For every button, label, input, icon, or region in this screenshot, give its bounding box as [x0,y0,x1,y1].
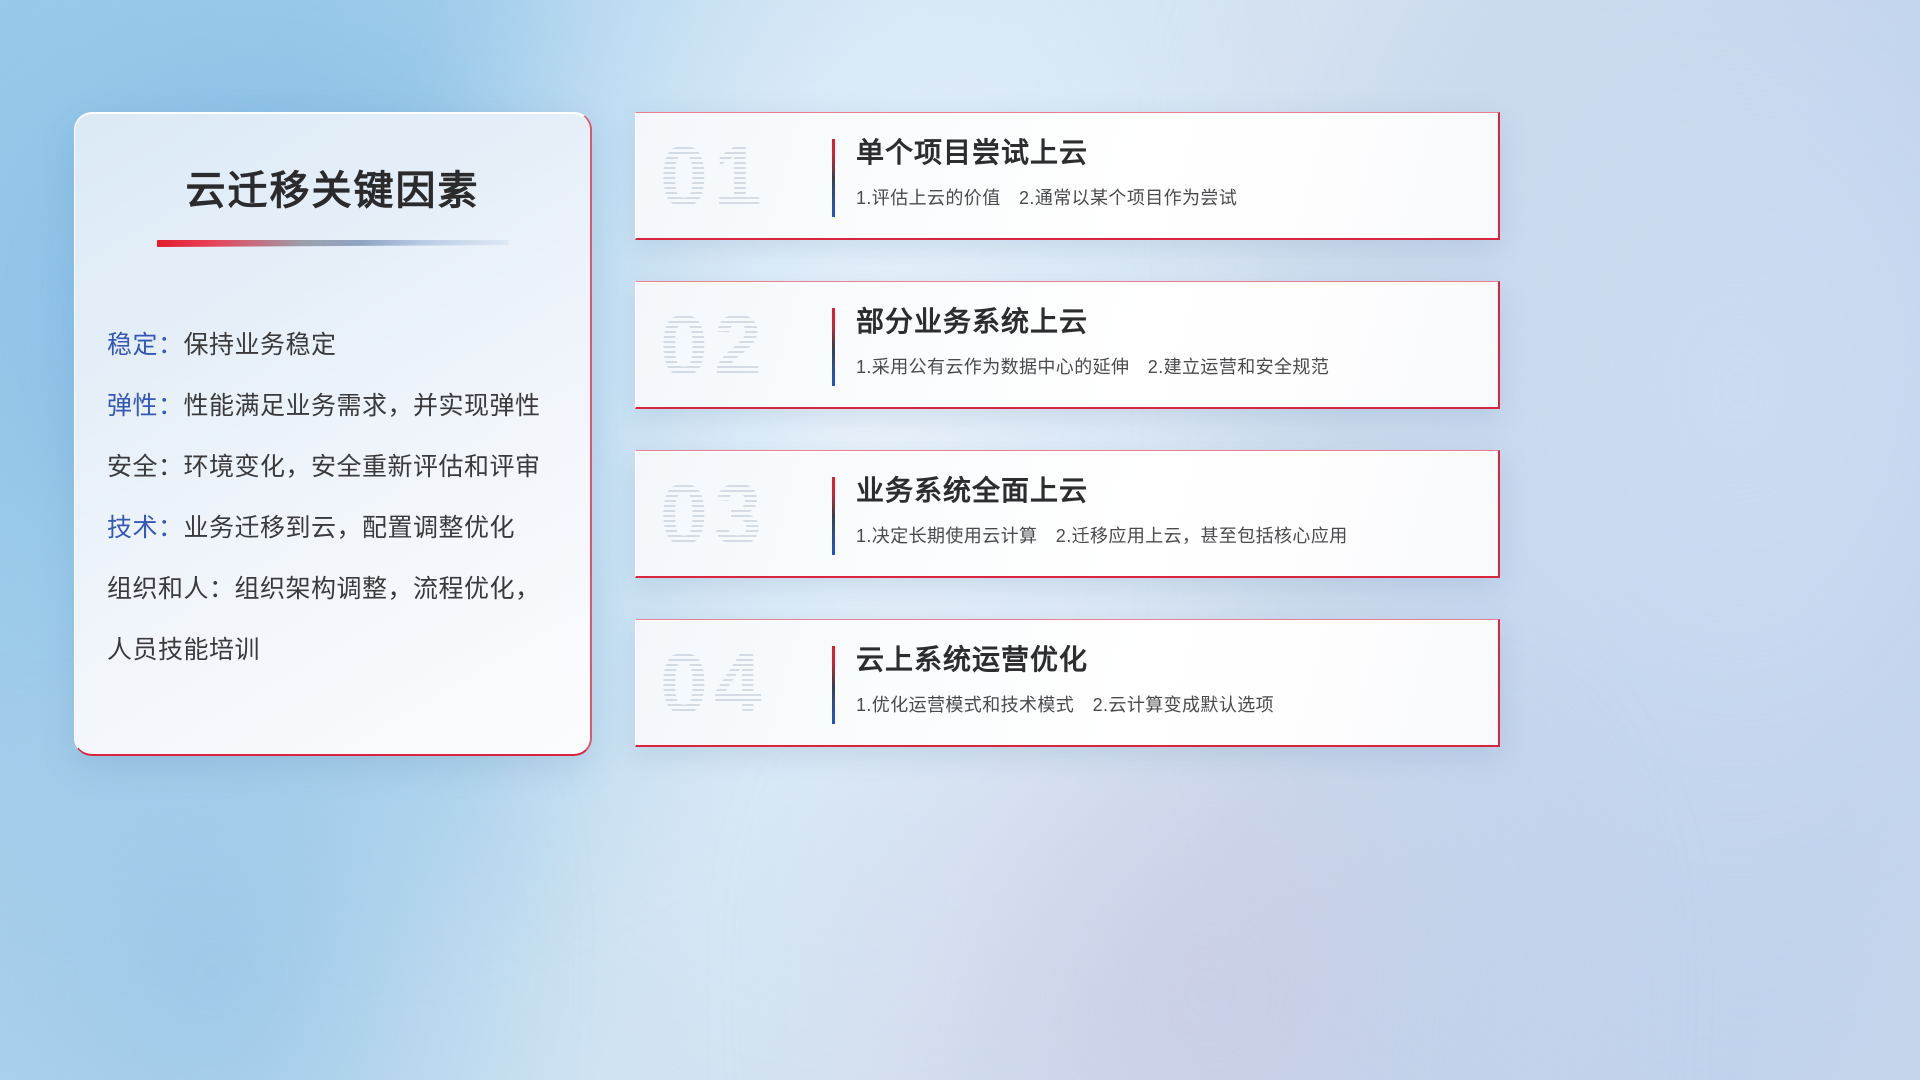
key-factors-list: 稳定：保持业务稳定弹性：性能满足业务需求，并实现弹性安全：环境变化，安全重新评估… [107,315,590,681]
key-factor-label: 弹性： [107,392,184,420]
key-factor-label: 安全： [107,453,184,481]
stage-divider-accent [832,646,835,724]
stage-number: 01 [660,127,850,227]
stage-title: 云上系统运营优化 [856,640,1474,680]
stage-text-block: 单个项目尝试上云1.评估上云的价值 2.通常以某个项目作为尝试 [856,133,1474,211]
stage-description: 1.决定长期使用云计算 2.迁移应用上云，甚至包括核心应用 [856,523,1474,549]
cloud-migration-stage-cards: 01单个项目尝试上云1.评估上云的价值 2.通常以某个项目作为尝试02部分业务系… [635,112,1500,747]
key-factors-panel: 云迁移关键因素 稳定：保持业务稳定弹性：性能满足业务需求，并实现弹性安全：环境变… [74,112,592,756]
key-factor-value: 业务迁移到云，配置调整优化 [184,514,516,542]
stage-divider-accent [832,308,835,386]
stage-card[interactable]: 04云上系统运营优化1.优化运营模式和技术模式 2.云计算变成默认选项 [635,619,1500,747]
background-glow-bottom-left [0,713,538,1080]
background-glow-bottom [768,691,1651,1080]
stage-title: 单个项目尝试上云 [856,133,1474,173]
title-underline-accent [157,240,509,247]
stage-description: 1.采用公有云作为数据中心的延伸 2.建立运营和安全规范 [856,354,1474,380]
key-factor-label: 技术： [107,514,184,542]
key-factor-label: 稳定： [107,331,184,359]
stage-text-block: 部分业务系统上云1.采用公有云作为数据中心的延伸 2.建立运营和安全规范 [856,302,1474,380]
stage-card[interactable]: 03业务系统全面上云1.决定长期使用云计算 2.迁移应用上云，甚至包括核心应用 [635,450,1500,578]
key-factor-value: 保持业务稳定 [184,331,337,359]
key-factor-value: 性能满足业务需求，并实现弹性 [184,392,541,420]
stage-card[interactable]: 02部分业务系统上云1.采用公有云作为数据中心的延伸 2.建立运营和安全规范 [635,281,1500,409]
key-factor-item: 弹性：性能满足业务需求，并实现弹性 [107,376,590,437]
stage-card[interactable]: 01单个项目尝试上云1.评估上云的价值 2.通常以某个项目作为尝试 [635,112,1500,240]
key-factor-item: 组织和人：组织架构调整，流程优化， [107,559,590,620]
stage-number: 02 [660,296,850,396]
key-factor-label: 组织和人： [107,575,235,603]
stage-number: 04 [660,634,850,734]
stage-text-block: 云上系统运营优化1.优化运营模式和技术模式 2.云计算变成默认选项 [856,640,1474,718]
stage-divider-accent [832,477,835,555]
key-factor-item: 安全：环境变化，安全重新评估和评审 [107,437,590,498]
key-factor-value: 组织架构调整，流程优化， [235,575,541,603]
key-factor-value: 人员技能培训 [107,636,260,664]
key-factor-item: 人员技能培训 [107,620,590,681]
key-factor-item: 技术：业务迁移到云，配置调整优化 [107,498,590,559]
stage-text-block: 业务系统全面上云1.决定长期使用云计算 2.迁移应用上云，甚至包括核心应用 [856,471,1474,549]
stage-title: 业务系统全面上云 [856,471,1474,511]
stage-divider-accent [832,139,835,217]
page-title: 云迁移关键因素 [75,158,590,216]
stage-number: 03 [660,465,850,565]
key-factor-item: 稳定：保持业务稳定 [107,315,590,376]
stage-description: 1.评估上云的价值 2.通常以某个项目作为尝试 [856,185,1474,211]
stage-title: 部分业务系统上云 [856,302,1474,342]
stage-description: 1.优化运营模式和技术模式 2.云计算变成默认选项 [856,692,1474,718]
key-factor-value: 环境变化，安全重新评估和评审 [184,453,541,481]
